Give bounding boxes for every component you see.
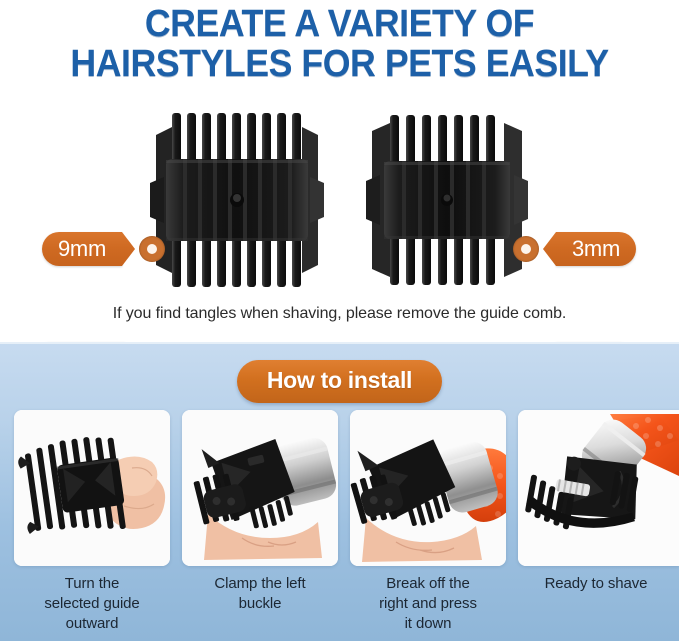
install-step-4-image [518,410,679,566]
install-step-captions: Turn the selected guide outward Clamp th… [0,574,679,640]
size-label-3mm-ring-icon [513,236,539,262]
size-label-3mm: 3mm [513,231,636,267]
install-banner-label: How to install [237,360,442,403]
guide-comb-large [142,105,332,295]
size-label-9mm-notch [122,232,135,266]
install-step-1-caption: Turn the selected guide outward [8,574,176,634]
install-step-2-image [182,410,338,566]
guide-comb-large-illustration [142,105,332,295]
guide-combs-row: 9mm 12mm 3mm 6mm [0,105,679,295]
page-title: CREATE A VARIETY OF HAIRSTYLES FOR PETS … [0,4,679,84]
size-label-9mm-text: 9mm [42,232,122,266]
size-label-9mm-ring-icon [139,236,165,262]
headline-section: CREATE A VARIETY OF HAIRSTYLES FOR PETS … [0,0,679,342]
install-banner: How to install [0,360,679,403]
install-step-4-caption: Ready to shave [512,574,679,594]
install-steps [0,410,679,566]
install-step-1-image [14,410,170,566]
headline-line-1: CREATE A VARIETY OF [20,4,658,44]
caption-1-line-2: selected guide [8,594,176,614]
install-step-3-caption: Break off the right and press it down [344,574,512,634]
caption-2-line-2: buckle [176,594,344,614]
caption-3-line-2: right and press [344,594,512,614]
tangles-note: If you find tangles when shaving, please… [0,305,679,323]
caption-3-line-3: it down [344,614,512,634]
size-label-9mm: 9mm [42,231,165,267]
install-step-2-caption: Clamp the left buckle [176,574,344,614]
caption-2-line-1: Clamp the left [176,574,344,594]
size-label-3mm-text: 3mm [556,232,636,266]
size-label-3mm-notch [543,232,556,266]
install-step-3-image [350,410,506,566]
caption-3-line-1: Break off the [344,574,512,594]
caption-1-line-3: outward [8,614,176,634]
how-to-install-section: How to install [0,342,679,641]
headline-line-2: HAIRSTYLES FOR PETS EASILY [20,44,658,84]
caption-4-line-1: Ready to shave [512,574,679,594]
caption-1-line-1: Turn the [8,574,176,594]
